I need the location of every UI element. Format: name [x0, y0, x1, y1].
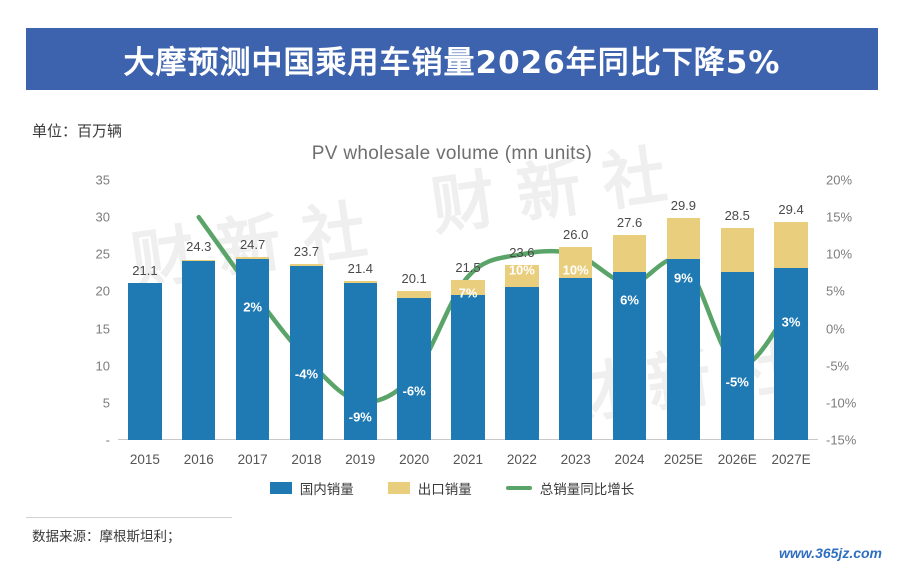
- bar-total-label: 27.6: [617, 215, 642, 230]
- bar-total-label: 21.4: [348, 261, 373, 276]
- x-axis-tick: 2015: [130, 452, 160, 467]
- legend-item-domestic: 国内销量: [270, 478, 354, 498]
- bar-export: [290, 264, 323, 266]
- bar-total-label: 29.4: [778, 202, 803, 217]
- chart-container: PV wholesale volume (mn units) -51015202…: [26, 105, 878, 525]
- x-axis-tick: 2022: [507, 452, 537, 467]
- growth-label: 6%: [620, 293, 639, 308]
- legend-label-growth: 总销量同比增长: [540, 478, 635, 498]
- y-axis-tick: 30: [96, 210, 110, 225]
- title-banner: 大摩预测中国乘用车销量2026年同比下降5%: [26, 28, 878, 90]
- legend-label-export: 出口销量: [418, 478, 472, 498]
- bar-domestic: [721, 272, 754, 440]
- bar-domestic: [182, 261, 215, 440]
- bar-export: [613, 235, 646, 272]
- website-label: www.365jz.com: [779, 545, 882, 561]
- y2-axis-tick: 15%: [826, 210, 852, 225]
- x-axis-tick: 2026E: [718, 452, 757, 467]
- x-axis-tick: 2017: [238, 452, 268, 467]
- growth-label: -9%: [349, 410, 372, 425]
- bar-domestic: [397, 298, 430, 440]
- growth-label: -4%: [295, 367, 318, 382]
- bar-export: [721, 228, 754, 272]
- bar-export: [182, 260, 215, 261]
- bar-domestic: [559, 278, 592, 440]
- bar-export: [774, 222, 807, 268]
- bar-domestic: [774, 268, 807, 440]
- bar-domestic: [451, 295, 484, 440]
- plot-area: -5101520253035-15%-10%-5%0%5%10%15%20%21…: [118, 180, 818, 440]
- growth-label: 10%: [509, 263, 535, 278]
- x-axis-tick: 2016: [184, 452, 214, 467]
- x-axis-tick: 2023: [561, 452, 591, 467]
- legend-swatch-growth: [506, 486, 532, 490]
- growth-label: 7%: [459, 285, 478, 300]
- growth-label: 2%: [243, 300, 262, 315]
- bar-total-label: 24.7: [240, 237, 265, 252]
- bar-total-label: 21.1: [132, 263, 157, 278]
- y-axis-tick: -: [106, 433, 110, 448]
- bar-total-label: 20.1: [401, 271, 426, 286]
- y-axis-tick: 35: [96, 173, 110, 188]
- x-axis-tick: 2019: [345, 452, 375, 467]
- x-axis-tick: 2021: [453, 452, 483, 467]
- bar-total-label: 26.0: [563, 227, 588, 242]
- bar-export: [397, 291, 430, 298]
- y2-axis-tick: 10%: [826, 247, 852, 262]
- bar-domestic: [236, 259, 269, 440]
- bar-total-label: 28.5: [725, 208, 750, 223]
- bar-total-label: 23.6: [509, 245, 534, 260]
- y2-axis-tick: -15%: [826, 433, 856, 448]
- y-axis-tick: 20: [96, 284, 110, 299]
- bar-domestic: [290, 266, 323, 440]
- bar-domestic: [667, 259, 700, 440]
- x-axis-tick: 2027E: [772, 452, 811, 467]
- y2-axis-tick: 5%: [826, 284, 845, 299]
- growth-label: -5%: [726, 374, 749, 389]
- growth-label: 3%: [782, 315, 801, 330]
- bar-total-label: 21.5: [455, 260, 480, 275]
- y2-axis-tick: -10%: [826, 395, 856, 410]
- chart-title: PV wholesale volume (mn units): [26, 143, 878, 165]
- x-axis-tick: 2024: [615, 452, 645, 467]
- y2-axis-tick: 0%: [826, 321, 845, 336]
- growth-label: -6%: [403, 383, 426, 398]
- legend-item-export: 出口销量: [388, 478, 472, 498]
- page-root: 财 新 社 财 新 社 财 新 社 大摩预测中国乘用车销量2026年同比下降5%…: [0, 0, 904, 578]
- legend-item-growth: 总销量同比增长: [506, 478, 635, 498]
- source-note: 数据来源：摩根斯坦利；: [32, 525, 181, 545]
- chart-legend: 国内销量 出口销量 总销量同比增长: [26, 478, 878, 498]
- source-divider: [26, 517, 232, 518]
- y-axis-tick: 15: [96, 321, 110, 336]
- bar-total-label: 29.9: [671, 198, 696, 213]
- growth-label: 9%: [674, 270, 693, 285]
- bar-total-label: 24.3: [186, 239, 211, 254]
- y-axis-tick: 25: [96, 247, 110, 262]
- y2-axis-tick: -5%: [826, 358, 849, 373]
- y-axis-tick: 5: [103, 395, 110, 410]
- y-axis-tick: 10: [96, 358, 110, 373]
- bar-total-label: 23.7: [294, 244, 319, 259]
- x-axis-tick: 2025E: [664, 452, 703, 467]
- x-axis-tick: 2020: [399, 452, 429, 467]
- x-axis-tick: 2018: [291, 452, 321, 467]
- bar-export: [344, 281, 377, 283]
- legend-label-domestic: 国内销量: [300, 478, 354, 498]
- bar-export: [667, 218, 700, 259]
- legend-swatch-domestic: [270, 482, 292, 494]
- legend-swatch-export: [388, 482, 410, 494]
- bar-domestic: [505, 287, 538, 440]
- bar-export: [236, 257, 269, 259]
- bar-domestic: [128, 283, 161, 440]
- page-title: 大摩预测中国乘用车销量2026年同比下降5%: [124, 37, 781, 82]
- growth-label: 10%: [563, 263, 589, 278]
- y2-axis-tick: 20%: [826, 173, 852, 188]
